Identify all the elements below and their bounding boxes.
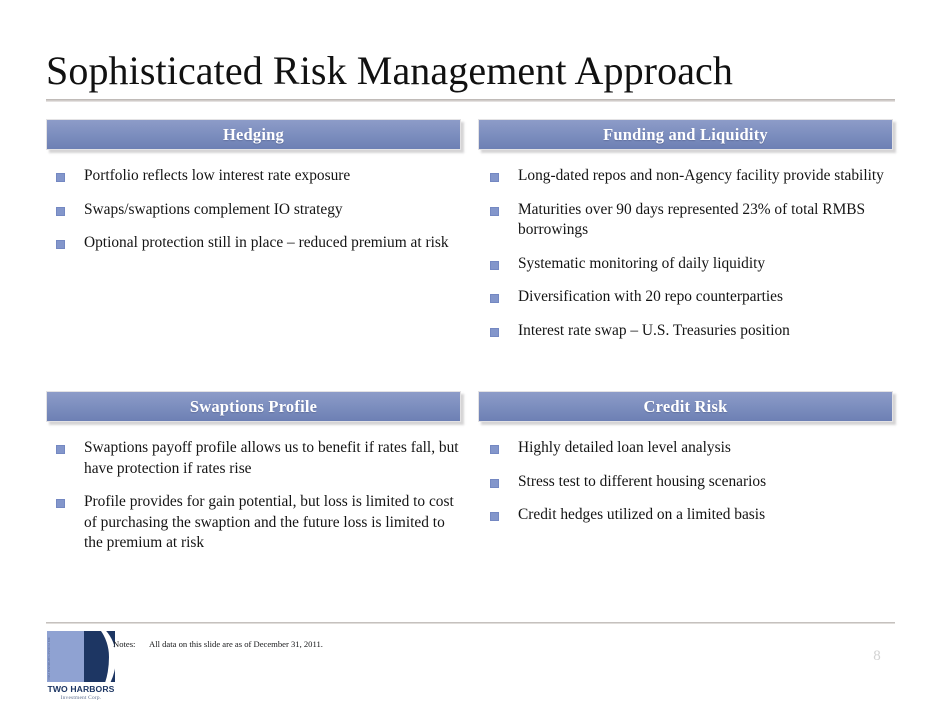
footnote-text: All data on this slide are as of Decembe… xyxy=(149,639,323,649)
panel-hedging: Hedging Portfolio reflects low interest … xyxy=(46,119,461,254)
footer-divider xyxy=(46,622,895,624)
list-item-text: Systematic monitoring of daily liquidity xyxy=(518,255,765,272)
panel-credit-risk: Credit Risk Highly detailed loan level a… xyxy=(478,391,893,526)
panel-header-label: Hedging xyxy=(223,125,284,145)
list-item: Stress test to different housing scenari… xyxy=(478,472,893,493)
square-bullet-icon xyxy=(56,173,65,182)
panel-header-hedging: Hedging xyxy=(46,119,461,150)
logo-company-subtitle: Investment Corp. xyxy=(47,695,115,701)
list-item: Credit hedges utilized on a limited basi… xyxy=(478,505,893,526)
list-item-text: Maturities over 90 days represented 23% … xyxy=(518,201,865,239)
square-bullet-icon xyxy=(56,207,65,216)
title-divider xyxy=(46,99,895,102)
logo-mark-icon: TWO HARBORS INVESTMENT CORP xyxy=(47,631,115,682)
list-item: Diversification with 20 repo counterpart… xyxy=(478,287,893,308)
list-item: Optional protection still in place – red… xyxy=(46,233,461,254)
square-bullet-icon xyxy=(490,294,499,303)
list-item-text: Optional protection still in place – red… xyxy=(84,234,449,251)
list-item: Interest rate swap – U.S. Treasuries pos… xyxy=(478,321,893,342)
list-item: Swaps/swaptions complement IO strategy xyxy=(46,200,461,221)
list-item-text: Swaptions payoff profile allows us to be… xyxy=(84,439,459,477)
square-bullet-icon xyxy=(490,261,499,270)
bullet-list-hedging: Portfolio reflects low interest rate exp… xyxy=(46,166,461,254)
list-item: Portfolio reflects low interest rate exp… xyxy=(46,166,461,187)
slide-canvas: Sophisticated Risk Management Approach H… xyxy=(0,0,940,705)
square-bullet-icon xyxy=(56,240,65,249)
panel-header-credit-risk: Credit Risk xyxy=(478,391,893,422)
footnote-label: Notes: xyxy=(113,639,149,649)
list-item: Long-dated repos and non-Agency facility… xyxy=(478,166,893,187)
list-item-text: Diversification with 20 repo counterpart… xyxy=(518,288,783,305)
panel-header-label: Credit Risk xyxy=(644,397,728,417)
list-item-text: Highly detailed loan level analysis xyxy=(518,439,731,456)
square-bullet-icon xyxy=(56,499,65,508)
panel-swaptions-profile: Swaptions Profile Swaptions payoff profi… xyxy=(46,391,461,554)
list-item: Profile provides for gain potential, but… xyxy=(46,492,461,554)
list-item-text: Stress test to different housing scenari… xyxy=(518,473,766,490)
panel-header-swaptions: Swaptions Profile xyxy=(46,391,461,422)
list-item: Swaptions payoff profile allows us to be… xyxy=(46,438,461,479)
panel-funding-and-liquidity: Funding and Liquidity Long-dated repos a… xyxy=(478,119,893,341)
square-bullet-icon xyxy=(490,328,499,337)
panel-header-funding: Funding and Liquidity xyxy=(478,119,893,150)
logo-swoosh-icon xyxy=(61,631,115,682)
page-title: Sophisticated Risk Management Approach xyxy=(46,47,733,94)
list-item-text: Credit hedges utilized on a limited basi… xyxy=(518,506,765,523)
panel-header-label: Swaptions Profile xyxy=(190,397,317,417)
square-bullet-icon xyxy=(490,479,499,488)
bullet-list-funding: Long-dated repos and non-Agency facility… xyxy=(478,166,893,341)
list-item-text: Interest rate swap – U.S. Treasuries pos… xyxy=(518,322,790,339)
square-bullet-icon xyxy=(490,207,499,216)
list-item-text: Swaps/swaptions complement IO strategy xyxy=(84,201,343,218)
list-item: Maturities over 90 days represented 23% … xyxy=(478,200,893,241)
list-item: Highly detailed loan level analysis xyxy=(478,438,893,459)
footnote: Notes: All data on this slide are as of … xyxy=(113,639,323,649)
company-logo: TWO HARBORS INVESTMENT CORP TWO HARBORS … xyxy=(47,631,115,697)
bullet-list-swaptions: Swaptions payoff profile allows us to be… xyxy=(46,438,461,554)
square-bullet-icon xyxy=(490,173,499,182)
bullet-list-credit-risk: Highly detailed loan level analysis Stre… xyxy=(478,438,893,526)
logo-microtext: TWO HARBORS INVESTMENT CORP xyxy=(48,637,57,681)
square-bullet-icon xyxy=(56,445,65,454)
list-item-text: Profile provides for gain potential, but… xyxy=(84,493,454,551)
list-item-text: Long-dated repos and non-Agency facility… xyxy=(518,167,884,184)
square-bullet-icon xyxy=(490,512,499,521)
square-bullet-icon xyxy=(490,445,499,454)
panel-header-label: Funding and Liquidity xyxy=(603,125,768,145)
list-item: Systematic monitoring of daily liquidity xyxy=(478,254,893,275)
list-item-text: Portfolio reflects low interest rate exp… xyxy=(84,167,350,184)
logo-company-name: TWO HARBORS xyxy=(47,684,115,694)
page-number: 8 xyxy=(866,648,888,665)
